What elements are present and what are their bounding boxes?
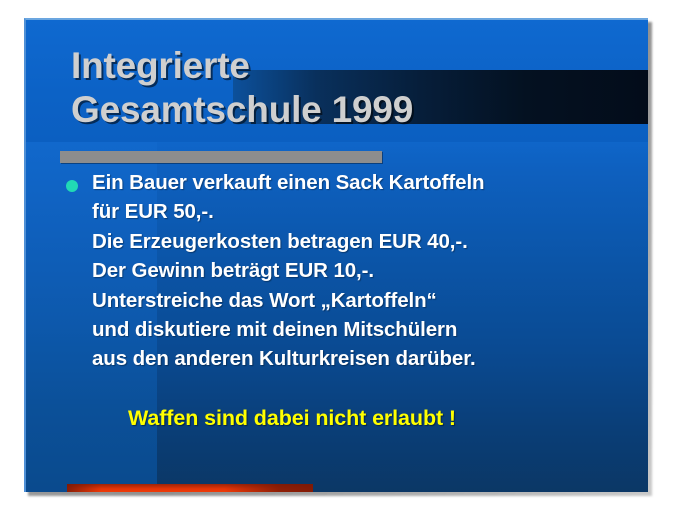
slide-title: Integrierte Gesamtschule 1999 [71, 44, 631, 132]
body-line: für EUR 50,-. [92, 197, 640, 226]
slide-page: Integrierte Gesamtschule 1999 Ein Bauer … [0, 0, 674, 514]
body-line: Ein Bauer verkauft einen Sack Kartoffeln [92, 168, 640, 197]
body-text-lines: Ein Bauer verkauft einen Sack Kartoffeln… [92, 168, 640, 374]
body-line: Der Gewinn beträgt EUR 10,-. [92, 256, 640, 285]
slide-body: Ein Bauer verkauft einen Sack Kartoffeln… [60, 168, 640, 431]
body-line: Unterstreiche das Wort „Kartoffeln“ [92, 286, 640, 315]
bullet-list-item: Ein Bauer verkauft einen Sack Kartoffeln… [60, 168, 640, 374]
body-line: aus den anderen Kulturkreisen darüber. [92, 344, 640, 373]
body-line: und diskutiere mit deinen Mitschülern [92, 315, 640, 344]
highlight-statement: Waffen sind dabei nicht erlaubt ! [60, 406, 640, 431]
presentation-slide: Integrierte Gesamtschule 1999 Ein Bauer … [24, 18, 648, 492]
title-underline-bar [60, 151, 382, 163]
body-line: Die Erzeugerkosten betragen EUR 40,-. [92, 227, 640, 256]
bottom-accent-bar [67, 484, 313, 492]
bullet-dot-icon [66, 180, 78, 192]
